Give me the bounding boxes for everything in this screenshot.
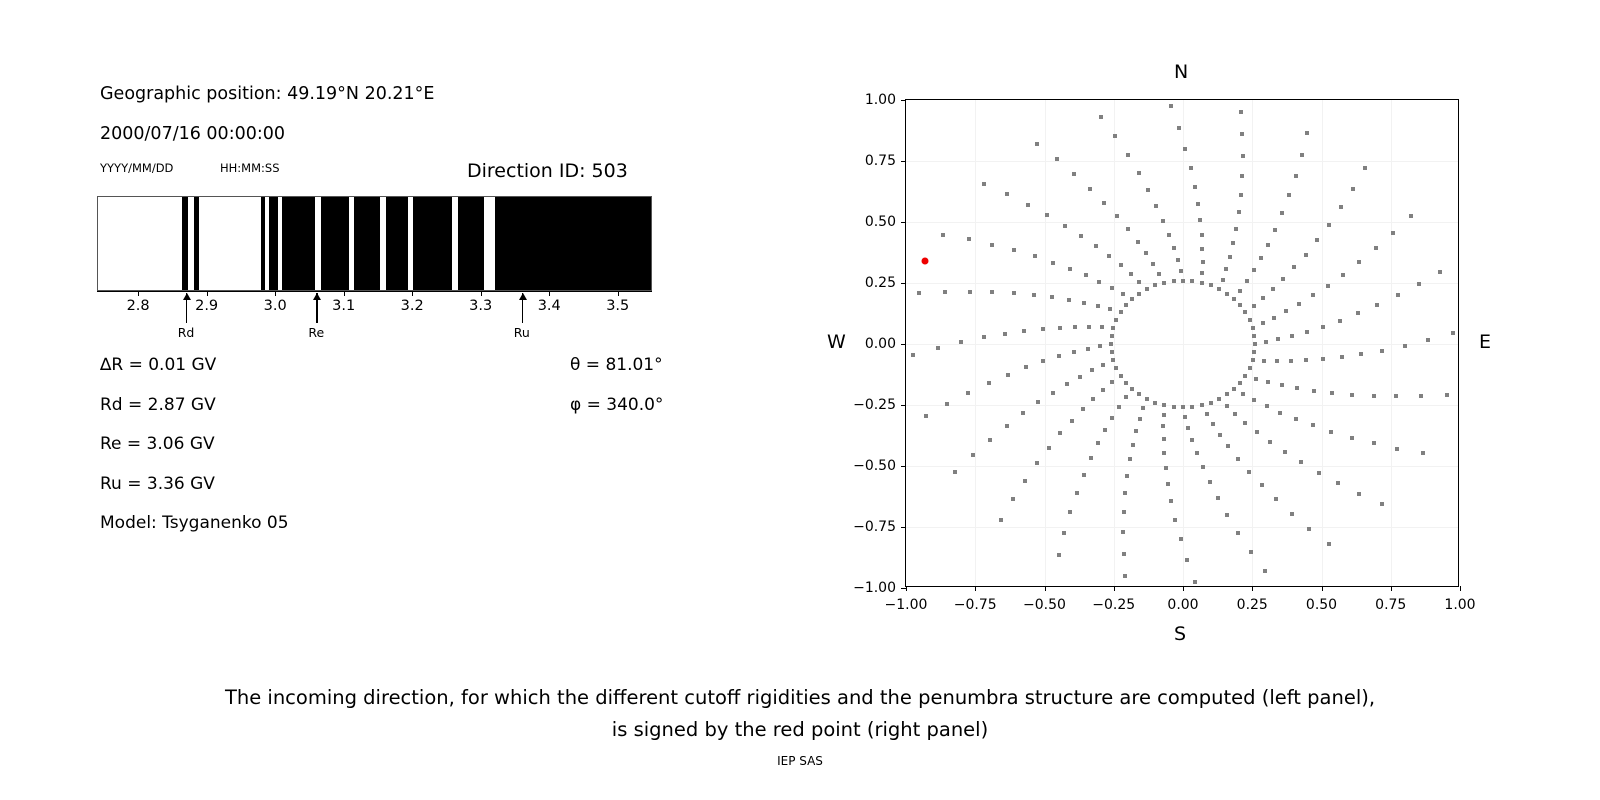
scatter-point: [1252, 350, 1256, 354]
scatter-point: [1200, 271, 1204, 275]
penumbra-forbidden-band: [354, 197, 381, 290]
scatter-point: [1426, 338, 1430, 342]
scatter-point: [945, 402, 949, 406]
scatter-point: [1137, 280, 1141, 284]
scatter-point: [1045, 213, 1049, 217]
scatter-point: [1131, 443, 1135, 447]
scatter-point: [1097, 280, 1101, 284]
gridline-horizontal: [906, 344, 1458, 345]
parameter-row: Rd = 2.87 GV: [100, 395, 216, 415]
rigidity-marker-label: Rd: [178, 325, 195, 340]
scatter-point: [1047, 446, 1051, 450]
angle-parameter-row: θ = 81.01°: [570, 355, 663, 375]
scatter-point: [1146, 188, 1150, 192]
scatter-point: [1240, 174, 1244, 178]
scatter-point: [1023, 479, 1027, 483]
scatter-point: [1241, 154, 1245, 158]
scatter-point: [1055, 157, 1059, 161]
scatter-point: [1295, 386, 1299, 390]
scatter-point: [1172, 405, 1176, 409]
scatter-point: [1128, 457, 1132, 461]
scatter-point: [1114, 318, 1118, 322]
compass-label-north: N: [1174, 61, 1188, 83]
scatter-point: [1396, 293, 1400, 297]
scatter-point: [1251, 358, 1255, 362]
scatter-point: [1247, 470, 1251, 474]
scatter-point: [1157, 272, 1161, 276]
scatter-point: [987, 381, 991, 385]
scatter-point: [1136, 240, 1140, 244]
y-axis-tick: [901, 222, 906, 223]
gridline-vertical: [1391, 100, 1392, 586]
scatter-point: [1409, 214, 1413, 218]
scatter-point: [1190, 405, 1194, 409]
scatter-point: [1089, 456, 1093, 460]
scatter-point: [1372, 394, 1376, 398]
scatter-point: [1264, 340, 1268, 344]
x-axis-tick-label: 0.75: [1375, 597, 1406, 613]
scatter-point: [1280, 211, 1284, 215]
scatter-point: [1005, 424, 1009, 428]
scatter-point: [1232, 297, 1236, 301]
gridline-vertical: [1045, 100, 1046, 586]
y-axis-tick-label: 1.00: [844, 92, 896, 108]
scatter-point: [1176, 258, 1180, 262]
gridline-horizontal: [906, 283, 1458, 284]
scatter-point: [1380, 502, 1384, 506]
scatter-point: [1022, 329, 1026, 333]
rigidity-marker-label: Re: [308, 325, 324, 340]
scatter-point: [1276, 337, 1280, 341]
scatter-point: [1224, 267, 1228, 271]
scatter-point: [1311, 293, 1315, 297]
scatter-point: [1062, 531, 1066, 535]
scatter-point: [1261, 296, 1265, 300]
scatter-point: [1273, 228, 1277, 232]
y-axis-tick: [901, 466, 906, 467]
scatter-point: [968, 290, 972, 294]
scatter-point: [936, 346, 940, 350]
scatter-point: [1289, 359, 1293, 363]
scatter-point: [1096, 304, 1100, 308]
scatter-point: [1238, 303, 1242, 307]
scatter-point: [1058, 326, 1062, 330]
parameter-row: Model: Tsyganenko 05: [100, 513, 289, 533]
penumbra-forbidden-band: [269, 197, 277, 290]
scatter-point: [1183, 147, 1187, 151]
scatter-point: [1196, 202, 1200, 206]
scatter-point: [1248, 318, 1252, 322]
scatter-point: [1119, 263, 1123, 267]
scatter-point: [1169, 104, 1173, 108]
scatter-point: [1248, 366, 1252, 370]
scatter-point: [1211, 422, 1215, 426]
scatter-point: [1072, 172, 1076, 176]
y-axis-tick: [901, 344, 906, 345]
scatter-point: [1237, 210, 1241, 214]
scatter-point: [1375, 303, 1379, 307]
scatter-point: [1232, 387, 1236, 391]
scatter-point: [1084, 273, 1088, 277]
scatter-point: [1292, 265, 1296, 269]
penumbra-forbidden-band: [321, 197, 348, 290]
x-axis-tick: [906, 586, 907, 591]
scatter-point: [1115, 214, 1119, 218]
scatter-point: [1088, 187, 1092, 191]
scatter-point: [1217, 287, 1221, 291]
gridline-horizontal: [906, 222, 1458, 223]
scatter-point: [1238, 289, 1242, 293]
scatter-point: [1275, 359, 1279, 363]
scatter-point: [1041, 327, 1045, 331]
scatter-point: [1181, 279, 1185, 283]
scatter-point: [1341, 273, 1345, 277]
scatter-point: [1201, 465, 1205, 469]
scatter-point: [1265, 404, 1269, 408]
scatter-point: [1338, 319, 1342, 323]
scatter-point: [1122, 510, 1126, 514]
scatter-point: [1068, 267, 1072, 271]
y-axis-tick-label: −1.00: [844, 580, 896, 596]
right-panel: −1.00−0.75−0.50−0.250.000.250.500.751.00…: [760, 0, 1600, 660]
scatter-point: [1340, 355, 1344, 359]
scatter-point: [1218, 433, 1222, 437]
scatter-point: [1259, 256, 1263, 260]
scatter-point: [1311, 423, 1315, 427]
scatter-point: [1166, 482, 1170, 486]
scatter-point: [1041, 359, 1045, 363]
selected-direction-point[interactable]: [922, 258, 929, 265]
penumbra-forbidden-band: [261, 197, 265, 290]
scatter-point: [1185, 558, 1189, 562]
scatter-point: [1108, 307, 1112, 311]
scatter-point: [1451, 331, 1455, 335]
scatter-point: [1272, 316, 1276, 320]
scatter-point: [1186, 426, 1190, 430]
scatter-point: [1225, 513, 1229, 517]
scatter-point: [1209, 283, 1213, 287]
scatter-point: [1161, 424, 1165, 428]
scatter-point: [1307, 527, 1311, 531]
scatter-point: [1300, 153, 1304, 157]
scatter-point: [1351, 187, 1355, 191]
scatter-point: [1421, 451, 1425, 455]
scatter-point: [1283, 450, 1287, 454]
scatter-point: [1125, 474, 1129, 478]
x-axis-tick: [1045, 586, 1046, 591]
scatter-point: [1262, 359, 1266, 363]
y-axis-tick: [901, 405, 906, 406]
scatter-point: [1321, 325, 1325, 329]
scatter-point: [1380, 349, 1384, 353]
scatter-point: [1110, 334, 1114, 338]
scatter-point: [1145, 397, 1149, 401]
scatter-point: [1357, 260, 1361, 264]
scatter-point: [1251, 326, 1255, 330]
scatter-point: [1078, 375, 1082, 379]
scatter-point: [971, 453, 975, 457]
scatter-point: [1287, 193, 1291, 197]
arrow-up-icon: [519, 293, 527, 300]
scatter-point: [1117, 405, 1121, 409]
scatter-point: [1036, 400, 1040, 404]
scatter-point: [1096, 441, 1100, 445]
scatter-point: [953, 470, 957, 474]
scatter-point: [1102, 201, 1106, 205]
scatter-point: [1110, 350, 1114, 354]
scatter-point: [941, 233, 945, 237]
scatter-point: [1070, 419, 1074, 423]
scatter-point: [1107, 254, 1111, 258]
caption-line-1: The incoming direction, for which the di…: [0, 682, 1600, 714]
scatter-point: [1137, 392, 1141, 396]
scatter-point: [1327, 223, 1331, 227]
x-axis-tick-label: −0.75: [954, 597, 997, 613]
penumbra-bar-chart: [97, 196, 652, 291]
date-format-hint: YYYY/MM/DD: [100, 161, 173, 175]
x-axis-tick: [1391, 586, 1392, 591]
scatter-point: [1294, 417, 1298, 421]
scatter-point: [1177, 126, 1181, 130]
scatter-point: [1294, 174, 1298, 178]
scatter-point: [990, 290, 994, 294]
scatter-point: [1359, 352, 1363, 356]
scatter-point: [1006, 373, 1010, 377]
scatter-point: [1033, 254, 1037, 258]
scatter-point: [1299, 460, 1303, 464]
x-axis-tick-label: 0.00: [1167, 597, 1198, 613]
scatter-point: [1249, 550, 1253, 554]
compass-label-west: W: [827, 331, 846, 353]
scatter-point: [1260, 483, 1264, 487]
scatter-point: [1110, 380, 1114, 384]
scatter-point: [1284, 309, 1288, 313]
scatter-point: [1113, 134, 1117, 138]
scatter-point: [1391, 231, 1395, 235]
scatter-point: [1243, 374, 1247, 378]
y-axis-tick: [901, 161, 906, 162]
scatter-point: [988, 438, 992, 442]
scatter-point: [1238, 381, 1242, 385]
left-panel: Geographic position: 49.19°N 20.21°E 200…: [0, 0, 760, 660]
gridline-vertical: [1183, 100, 1184, 586]
scatter-point: [1073, 325, 1077, 329]
x-axis-tick-label: −0.25: [1092, 597, 1135, 613]
scatter-point: [1189, 166, 1193, 170]
scatter-point: [1162, 413, 1166, 417]
scatter-point: [1438, 270, 1442, 274]
scatter-point: [1003, 332, 1007, 336]
scatter-point: [1281, 277, 1285, 281]
scatter-point: [1243, 310, 1247, 314]
scatter-point: [1173, 518, 1177, 522]
x-axis-tick-label: 0.25: [1237, 597, 1268, 613]
scatter-point: [1179, 269, 1183, 273]
scatter-point: [959, 340, 963, 344]
scatter-point: [1183, 415, 1187, 419]
scatter-point: [1057, 553, 1061, 557]
scatter-point: [1245, 279, 1249, 283]
scatter-point: [1193, 185, 1197, 189]
scatter-point: [1253, 342, 1257, 346]
x-axis-tick: [1252, 586, 1253, 591]
scatter-point: [1137, 292, 1141, 296]
scatter-point: [1162, 403, 1166, 407]
scatter-point: [1252, 268, 1256, 272]
scatter-point: [1058, 431, 1062, 435]
scatter-point: [1417, 282, 1421, 286]
scatter-point: [1278, 411, 1282, 415]
scatter-point: [1312, 389, 1316, 393]
scatter-point: [1130, 297, 1134, 301]
scatter-point: [1239, 193, 1243, 197]
scatter-point: [1021, 411, 1025, 415]
scatter-point: [1225, 292, 1229, 296]
x-axis-tick: [1460, 586, 1461, 591]
time-format-hint: HH:MM:SS: [220, 161, 280, 175]
gridline-horizontal: [906, 527, 1458, 528]
scatter-point: [1305, 131, 1309, 135]
compass-label-south: S: [1174, 623, 1186, 645]
scatter-point: [1193, 580, 1197, 584]
scatter-point: [1205, 412, 1209, 416]
scatter-point: [1221, 278, 1225, 282]
penumbra-forbidden-band: [386, 197, 409, 290]
scatter-point: [1099, 115, 1103, 119]
scatter-point: [1445, 393, 1449, 397]
gridline-horizontal: [906, 466, 1458, 467]
parameter-row: Re = 3.06 GV: [100, 434, 215, 454]
scatter-point: [1236, 531, 1240, 535]
y-axis-tick-label: 0.50: [844, 214, 896, 230]
scatter-point: [1094, 244, 1098, 248]
scatter-point: [1208, 480, 1212, 484]
scatter-point: [1315, 238, 1319, 242]
scatter-point: [1057, 354, 1061, 358]
scatter-point: [1200, 233, 1204, 237]
scatter-point: [1103, 428, 1107, 432]
x-axis-tick-label: −1.00: [885, 597, 928, 613]
scatter-point: [1372, 441, 1376, 445]
y-axis-tick-label: 0.00: [844, 336, 896, 352]
scatter-point: [1350, 436, 1354, 440]
scatter-point: [1195, 451, 1199, 455]
x-axis-tick: [1114, 586, 1115, 591]
scatter-point: [1190, 279, 1194, 283]
scatter-point: [1356, 311, 1360, 315]
scatter-point: [1231, 241, 1235, 245]
scatter-point: [1024, 365, 1028, 369]
scatter-point: [1357, 492, 1361, 496]
y-axis-tick-label: −0.25: [844, 397, 896, 413]
x-axis-tick-label: −0.50: [1023, 597, 1066, 613]
y-axis-tick-label: 0.75: [844, 153, 896, 169]
scatter-point: [1124, 381, 1128, 385]
x-axis-tick: [1183, 586, 1184, 591]
scatter-point: [1339, 205, 1343, 209]
scatter-point: [982, 182, 986, 186]
scatter-point: [1226, 444, 1230, 448]
scatter-point: [1190, 438, 1194, 442]
parameter-list: ∆R = 0.01 GVRd = 2.87 GVRe = 3.06 GVRu =…: [100, 355, 660, 535]
scatter-point: [1321, 357, 1325, 361]
scatter-point: [1086, 347, 1090, 351]
scatter-point: [967, 237, 971, 241]
scatter-point: [1236, 457, 1240, 461]
scatter-point: [1261, 321, 1265, 325]
scatter-point: [1141, 406, 1145, 410]
parameter-row: ∆R = 0.01 GV: [100, 355, 216, 375]
scatter-point: [1026, 203, 1030, 207]
scatter-point: [1255, 430, 1259, 434]
scatter-point: [1164, 466, 1168, 470]
scatter-point: [1124, 395, 1128, 399]
scatter-point: [1111, 358, 1115, 362]
scatter-point: [1216, 496, 1220, 500]
scatter-point: [1075, 491, 1079, 495]
y-axis-tick: [901, 283, 906, 284]
scatter-point: [1126, 153, 1130, 157]
scatter-point: [1123, 574, 1127, 578]
scatter-point: [1254, 377, 1258, 381]
scatter-point: [1167, 233, 1171, 237]
scatter-point: [1072, 350, 1076, 354]
scatter-point: [1290, 512, 1294, 516]
scatter-point: [1110, 416, 1114, 420]
scatter-point: [1374, 246, 1378, 250]
scatter-point: [1209, 401, 1213, 405]
x-axis-tick: [1322, 586, 1323, 591]
compass-label-east: E: [1479, 331, 1491, 353]
gridline-vertical: [975, 100, 976, 586]
scatter-point: [1304, 358, 1308, 362]
scatter-point: [1090, 368, 1094, 372]
scatter-point: [1130, 387, 1134, 391]
scatter-point: [1011, 497, 1015, 501]
scatter-point: [1274, 497, 1278, 501]
scatter-point: [1201, 260, 1205, 264]
footer-credit: IEP SAS: [0, 754, 1600, 768]
scatter-point: [1172, 279, 1176, 283]
scatter-point: [1268, 440, 1272, 444]
geographic-position-text: Geographic position: 49.19°N 20.21°E: [100, 84, 435, 104]
scatter-point: [1082, 473, 1086, 477]
scatter-point: [1051, 261, 1055, 265]
scatter-point: [1121, 292, 1125, 296]
scatter-point: [1228, 255, 1232, 259]
scatter-point: [1122, 552, 1126, 556]
scatter-point: [1200, 281, 1204, 285]
figure-caption: The incoming direction, for which the di…: [0, 682, 1600, 746]
scatter-point: [1394, 394, 1398, 398]
penumbra-rigidity-markers: RdReRu: [97, 291, 652, 351]
gridline-vertical: [1322, 100, 1323, 586]
scatter-point: [1198, 218, 1202, 222]
y-axis-tick-label: −0.75: [844, 519, 896, 535]
scatter-point: [1091, 397, 1095, 401]
scatter-point: [1200, 247, 1204, 251]
scatter-point: [1241, 392, 1245, 396]
scatter-point: [1239, 110, 1243, 114]
scatter-point: [1363, 166, 1367, 170]
penumbra-forbidden-band: [495, 197, 652, 290]
scatter-point: [1121, 530, 1125, 534]
scatter-point: [1304, 253, 1308, 257]
scatter-point: [1154, 204, 1158, 208]
gridline-horizontal: [906, 161, 1458, 162]
scatter-point: [1144, 251, 1148, 255]
scatter-point: [1114, 366, 1118, 370]
